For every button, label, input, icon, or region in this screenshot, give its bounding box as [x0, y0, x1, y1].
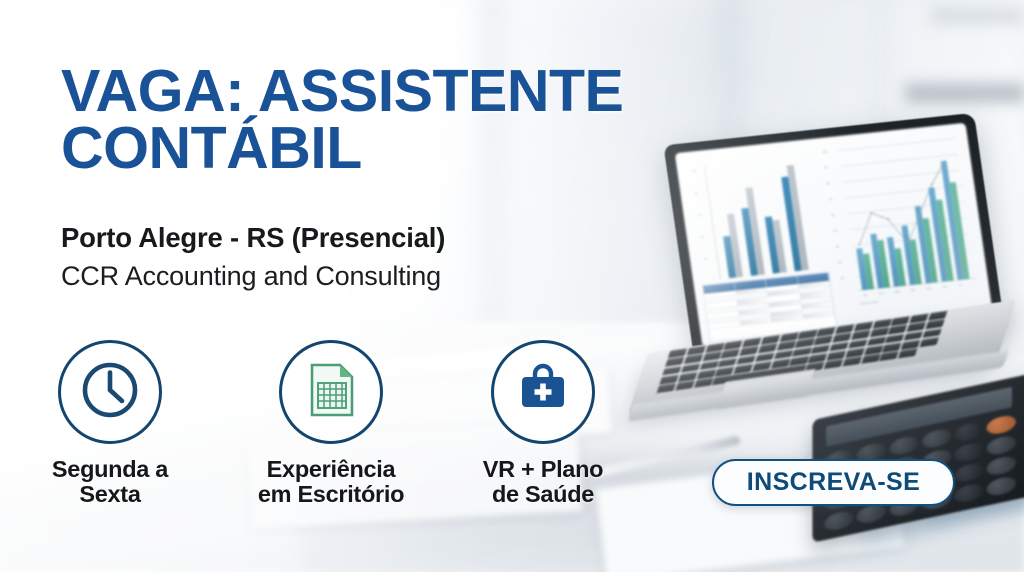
clock-icon: [78, 358, 142, 427]
apply-button-label: INSCREVA-SE: [747, 468, 920, 497]
headline-line-2: CONTÁBIL: [61, 120, 761, 177]
benefit-icon-circle: [279, 340, 383, 444]
benefit-icon-circle: [491, 340, 595, 444]
benefit-item-health: VR + Plano de Saúde: [455, 340, 631, 508]
spreadsheet-icon: [299, 358, 363, 427]
benefit-item-experience: Experiência em Escritório: [243, 340, 419, 508]
medical-briefcase-icon: [511, 358, 575, 427]
benefit-label: Segunda a Sexta: [30, 457, 190, 508]
job-location: Porto Alegre - RS (Presencial): [61, 222, 445, 254]
benefit-label: VR + Plano de Saúde: [455, 457, 631, 508]
page-title: VAGA: ASSISTENTE CONTÁBIL: [61, 63, 761, 176]
benefit-item-schedule: Segunda a Sexta: [30, 340, 190, 508]
benefit-label: Experiência em Escritório: [243, 457, 419, 508]
banner-canvas: 100 80 60 40 20 Cat 1 Cat 2: [0, 0, 1024, 572]
apply-button[interactable]: INSCREVA-SE: [712, 459, 955, 506]
benefit-icon-circle: [58, 340, 162, 444]
company-name: CCR Accounting and Consulting: [61, 261, 441, 292]
banner-content: VAGA: ASSISTENTE CONTÁBIL Porto Alegre -…: [0, 0, 1024, 572]
